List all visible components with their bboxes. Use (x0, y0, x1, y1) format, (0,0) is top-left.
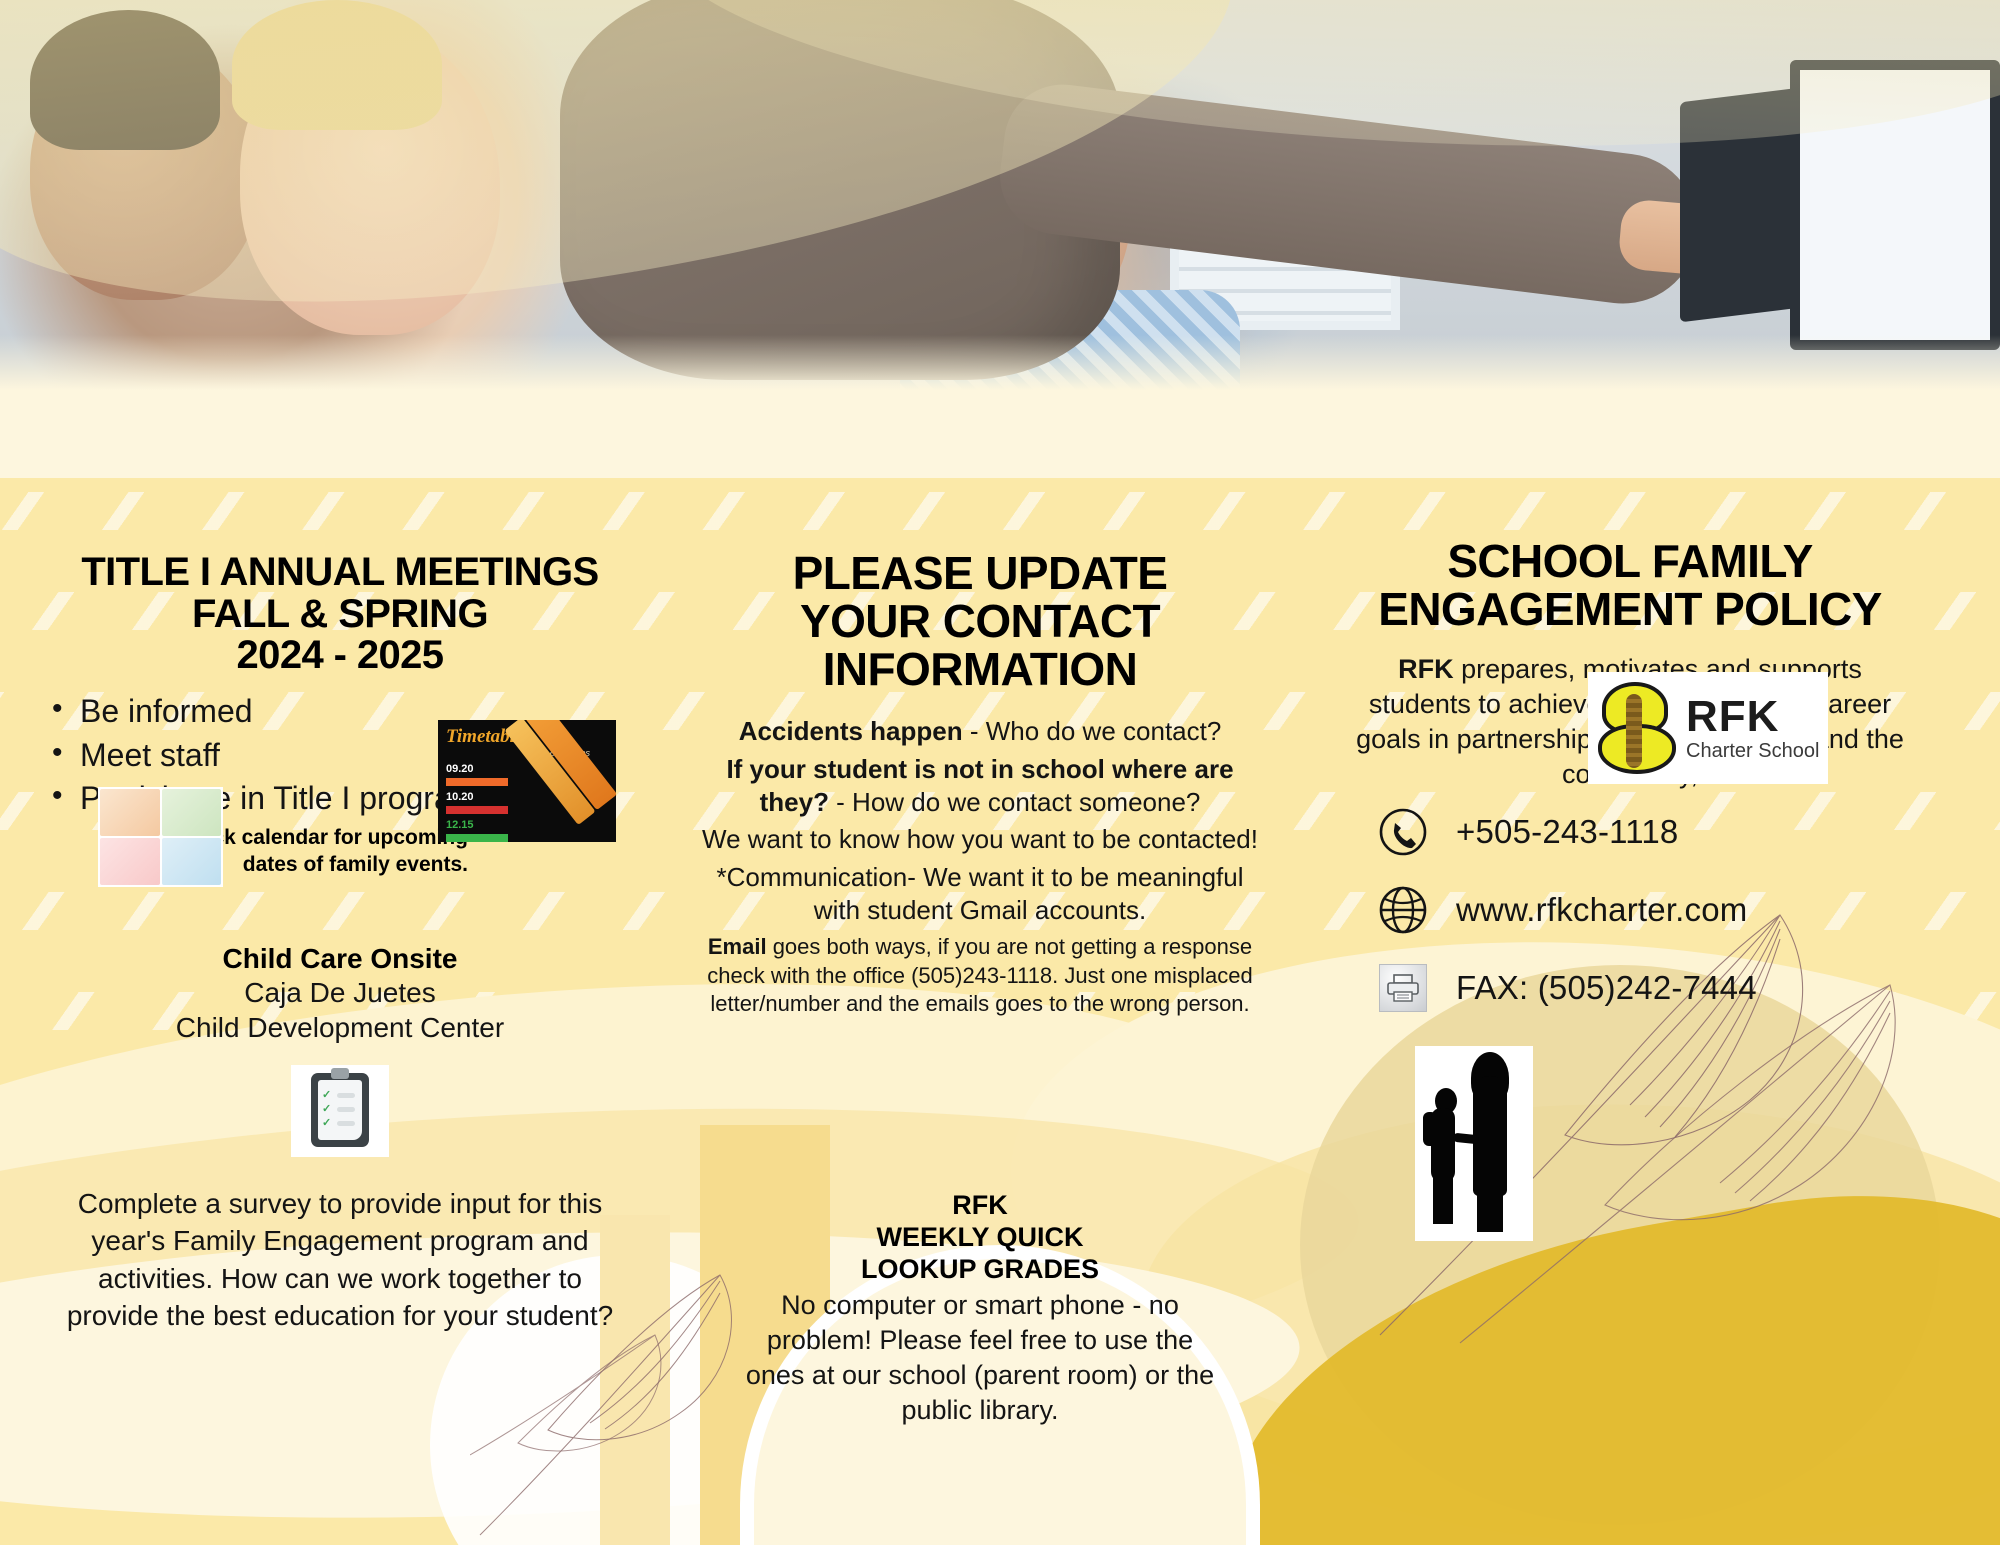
childcare-thumb (100, 838, 160, 885)
grade-card-title: RFK WEEKLY QUICK LOOKUP GRADES (740, 1190, 1220, 1286)
child-care-line-1: Caja De Juetes (40, 975, 640, 1010)
timetable-time: 09.20 (446, 763, 474, 775)
student-not-in-school-rest: - How do we contact someone? (829, 787, 1200, 817)
contact-row-website[interactable]: www.rfkcharter.com (1376, 883, 1936, 937)
email-note-rest: goes both ways, if you are not getting a… (707, 934, 1252, 1016)
weekly-grades-card: RFK WEEKLY QUICK LOOKUP GRADES No comput… (740, 1190, 1220, 1428)
childcare-thumb (100, 789, 160, 836)
timetable-bar (446, 806, 508, 814)
contact-paragraph-3: We want to know how you want to be conta… (700, 823, 1260, 856)
timetable-bar (446, 834, 508, 842)
middle-column-heading: PLEASE UPDATE YOUR CONTACT INFORMATION (700, 550, 1260, 693)
right-column-heading: SCHOOL FAMILY ENGAGEMENT POLICY (1320, 538, 1940, 634)
middle-heading-line-1: PLEASE UPDATE (793, 547, 1168, 599)
middle-heading-line-3: INFORMATION (823, 643, 1138, 695)
contact-row-phone[interactable]: +505-243-1118 (1376, 805, 1936, 859)
globe-icon (1376, 883, 1430, 937)
policy-bold-rfk: RFK (1398, 654, 1454, 684)
grade-card-title-line-1: RFK (952, 1190, 1008, 1220)
clipboard-icon: ✓ ✓ ✓ (291, 1065, 389, 1157)
rfk-charter-school-logo: RFK Charter School (1588, 672, 1828, 784)
timetable-bar (446, 778, 508, 786)
middle-heading-line-2: YOUR CONTACT (800, 595, 1160, 647)
content-columns: TITLE I ANNUAL MEETINGS FALL & SPRING 20… (0, 430, 2000, 1545)
grade-card-title-line-3: LOOKUP GRADES (861, 1254, 1099, 1284)
column-family-engagement-policy: SCHOOL FAMILY ENGAGEMENT POLICY RFK prep… (1320, 430, 1940, 792)
contact-row-fax[interactable]: FAX: (505)242-7444 (1376, 961, 1936, 1015)
logo-tagline: Charter School (1686, 741, 1819, 761)
timetable-image: Timetable of classes 09.20 10.20 12.15 1… (438, 720, 616, 842)
phone-icon (1376, 805, 1430, 859)
flyer-page: TITLE I ANNUAL MEETINGS FALL & SPRING 20… (0, 0, 2000, 1545)
column-title-i-meetings: TITLE I ANNUAL MEETINGS FALL & SPRING 20… (40, 430, 640, 1335)
hero-banner-image (0, 0, 2000, 430)
childcare-photo-grid (98, 787, 223, 887)
accidents-happen-bold: Accidents happen (739, 716, 963, 746)
childcare-thumb (162, 838, 222, 885)
timetable-time: 12.15 (446, 819, 474, 831)
hero-bottom-fade (0, 335, 2000, 430)
phone-number: +505-243-1118 (1456, 813, 1678, 851)
right-heading-line-2: ENGAGEMENT POLICY (1378, 583, 1882, 635)
contact-list: +505-243-1118 www.rfkcharter.com (1376, 805, 1936, 1039)
contact-paragraph-2: If your student is not in school where a… (700, 753, 1260, 820)
logo-name: RFK (1686, 695, 1819, 739)
website-url: www.rfkcharter.com (1456, 891, 1748, 929)
cobra-mascot-icon (1596, 680, 1680, 776)
grade-card-title-line-2: WEEKLY QUICK (876, 1222, 1083, 1252)
column-update-contact-info: PLEASE UPDATE YOUR CONTACT INFORMATION A… (700, 430, 1260, 1019)
contact-paragraph-4: *Communication- We want it to be meaning… (700, 861, 1260, 928)
left-heading-line-2: FALL & SPRING (192, 592, 488, 636)
child-care-line-2: Child Development Center (40, 1010, 640, 1045)
email-note: Email goes both ways, if you are not get… (700, 933, 1260, 1019)
grade-card-body: No computer or smart phone - no problem!… (740, 1288, 1220, 1428)
timetable-row: 12.15 (446, 815, 616, 842)
accidents-happen-rest: - Who do we contact? (963, 716, 1222, 746)
contact-paragraph-1: Accidents happen - Who do we contact? (700, 715, 1260, 748)
left-column-heading: TITLE I ANNUAL MEETINGS FALL & SPRING 20… (40, 552, 640, 677)
fax-icon (1376, 961, 1430, 1015)
right-heading-line-1: SCHOOL FAMILY (1447, 535, 1812, 587)
child-care-title: Child Care Onsite (40, 943, 640, 975)
email-note-bold: Email (708, 934, 767, 959)
left-heading-line-1: TITLE I ANNUAL MEETINGS (81, 550, 598, 594)
family-silhouette-photo (1415, 1046, 1533, 1241)
survey-paragraph: Complete a survey to provide input for t… (40, 1185, 640, 1335)
left-heading-line-3: 2024 - 2025 (237, 633, 444, 677)
timetable-time: 10.20 (446, 791, 474, 803)
childcare-thumb (162, 789, 222, 836)
fax-number: FAX: (505)242-7444 (1456, 969, 1757, 1007)
